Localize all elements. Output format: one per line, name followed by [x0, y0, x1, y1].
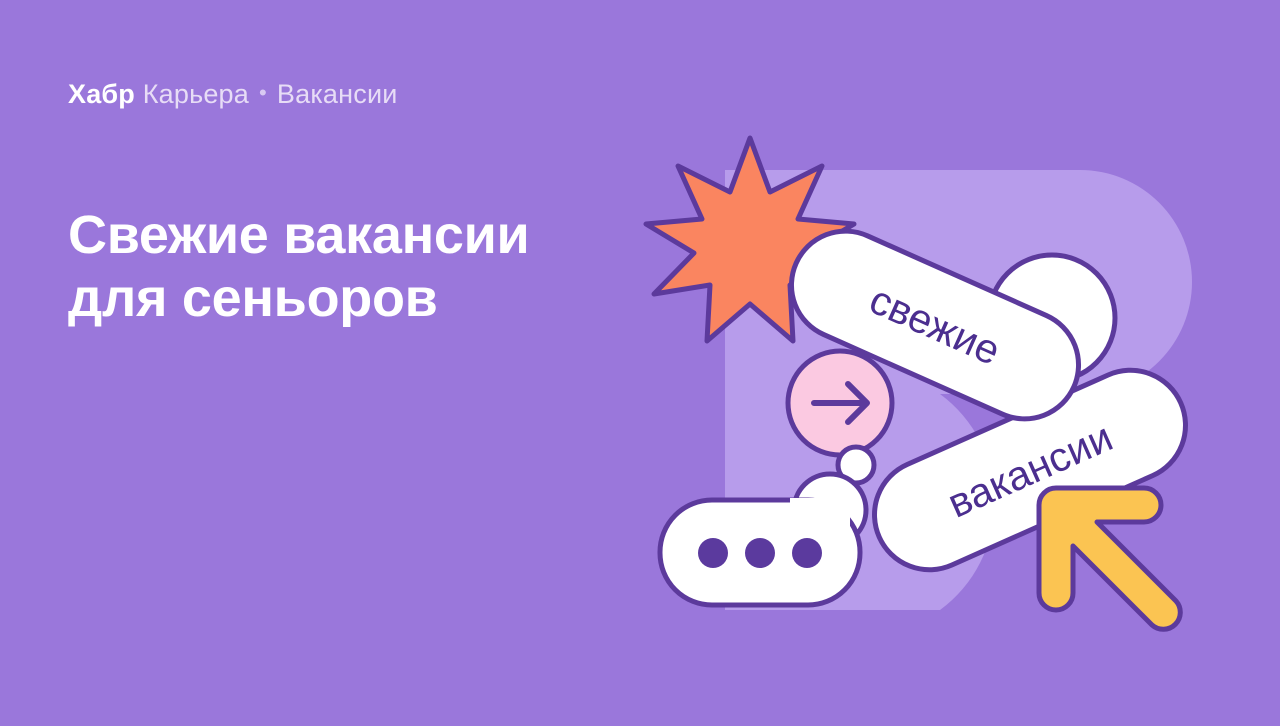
page-title: Свежие вакансии для сеньоров [68, 204, 688, 330]
breadcrumb-brand[interactable]: Хабр [68, 79, 135, 109]
habr-career-banner: Хабр Карьера•Вакансии Свежие вакансии дл… [0, 0, 1280, 726]
breadcrumb-section[interactable]: Карьера [143, 79, 249, 109]
page-title-line-1: Свежие вакансии [68, 205, 529, 265]
breadcrumb: Хабр Карьера•Вакансии [68, 76, 398, 111]
chat-dot-2 [745, 538, 775, 568]
arrow-right-circle-icon [788, 351, 892, 455]
breadcrumb-page[interactable]: Вакансии [277, 79, 398, 109]
arrow-up-left-icon [1039, 488, 1180, 629]
illustration: вакансии свежие [640, 120, 1240, 660]
page-title-line-2: для сеньоров [68, 267, 688, 330]
breadcrumb-separator-dot: • [259, 76, 267, 110]
chat-dot-3 [792, 538, 822, 568]
chat-dot-1 [698, 538, 728, 568]
